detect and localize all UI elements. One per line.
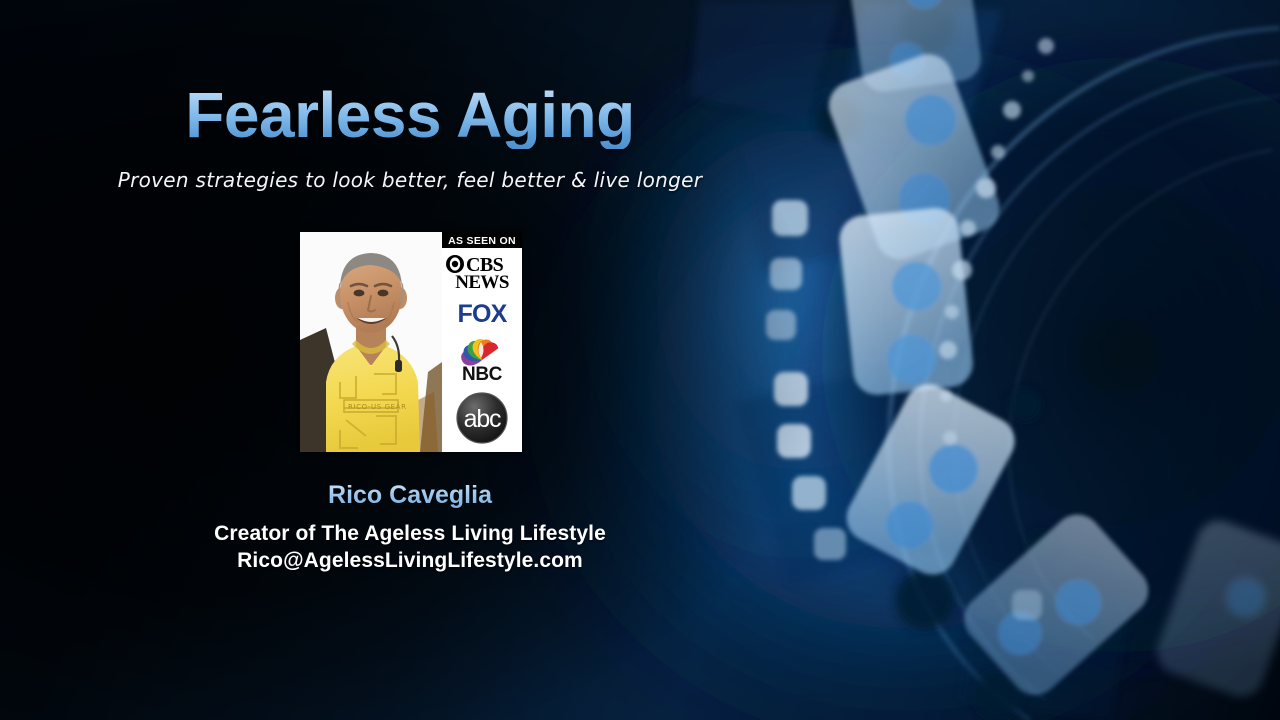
nbc-text: NBC [462, 364, 503, 385]
bg-dark-dot-group [816, 0, 1054, 719]
abc-text: abc [464, 405, 501, 433]
presenter-name: Rico Caveglia [0, 481, 820, 510]
bg-dark-dot [895, 570, 955, 630]
bg-dark-dot [1009, 389, 1041, 421]
bg-trail-dot [1003, 101, 1021, 119]
bg-tile-dot [887, 40, 928, 81]
bg-trail-dot [976, 178, 996, 198]
bg-panel-7 [960, 560, 1130, 720]
bg-small-square [1012, 590, 1042, 620]
bg-tile-dot [897, 87, 964, 154]
bg-panel-4 [844, 2, 1002, 128]
cbs-eye-icon [446, 255, 464, 273]
bg-dark-dot [885, 208, 925, 248]
bg-trail-dot [945, 305, 959, 319]
portrait-eye-left [354, 290, 365, 297]
bg-dark-dot [974, 671, 1022, 719]
bg-tile-dot [989, 602, 1051, 664]
slide-title: Fearless Aging [0, 82, 820, 149]
bg-tile-dot [1220, 572, 1271, 623]
as-seen-on-label: AS SEEN ON [448, 235, 516, 247]
bg-trail-dot [960, 220, 976, 236]
presenter-role: Creator of The Ageless Living Lifestyle [0, 522, 820, 546]
bg-tile-dot [919, 435, 987, 503]
bg-trail-dot [940, 390, 952, 402]
cbs-news-text: NEWS [455, 272, 509, 293]
bg-trail-dot [1022, 70, 1034, 82]
shirt-label-text: RICO-US GEAR [348, 403, 407, 411]
slide-content: Fearless Aging Proven strategies to look… [0, 0, 820, 720]
bg-dark-dot [900, 0, 956, 54]
bg-arc-faint [1009, 150, 1272, 640]
bg-tile-dot [891, 166, 958, 233]
bg-trail-dot [991, 145, 1005, 159]
presentation-slide: Fearless Aging Proven strategies to look… [0, 0, 1280, 720]
bg-tile-dot [889, 259, 944, 314]
bg-arc-inner [954, 96, 1280, 676]
bg-dot-trail-group [939, 38, 1054, 445]
bg-trail-dot [943, 431, 957, 445]
fox-logo: FOX [458, 300, 508, 328]
bg-tile [838, 376, 1023, 583]
bg-arc-group [889, 28, 1280, 720]
bg-trail-dot [952, 260, 972, 280]
bg-dark-dot [1026, 531, 1054, 559]
portrait-eye-right [378, 290, 389, 297]
bg-trail-dot [939, 341, 957, 359]
slide-subtitle: Proven strategies to look better, feel b… [0, 168, 820, 192]
bg-tile-dot [884, 332, 939, 387]
bg-tile-dot [1046, 570, 1111, 635]
abc-logo: abc [457, 393, 507, 443]
bg-tile [954, 505, 1158, 705]
presenter-photo-card: RICO-US GEAR [300, 232, 522, 452]
bg-tile [837, 206, 975, 398]
presenter-portrait: RICO-US GEAR [300, 232, 442, 452]
bg-tile-dot [877, 493, 942, 558]
presenter-email[interactable]: Rico@AgelessLivingLifestyle.com [0, 549, 820, 573]
bg-tile [822, 48, 1006, 267]
cbs-news-logo: CBS NEWS [446, 254, 509, 293]
as-seen-on-panel: AS SEEN ON CBS NEWS FOX [442, 232, 522, 452]
bg-tile [1151, 515, 1280, 703]
bg-dark-dot [816, 98, 860, 142]
bg-trail-dot [1038, 38, 1054, 54]
bg-tile-group [822, 0, 1280, 705]
bg-tile-dot [901, 0, 946, 12]
bg-tile [844, 0, 984, 94]
bg-arc-mid [920, 62, 1280, 700]
bg-arc-outer [889, 28, 1280, 720]
bg-ring-core [790, 25, 1280, 685]
